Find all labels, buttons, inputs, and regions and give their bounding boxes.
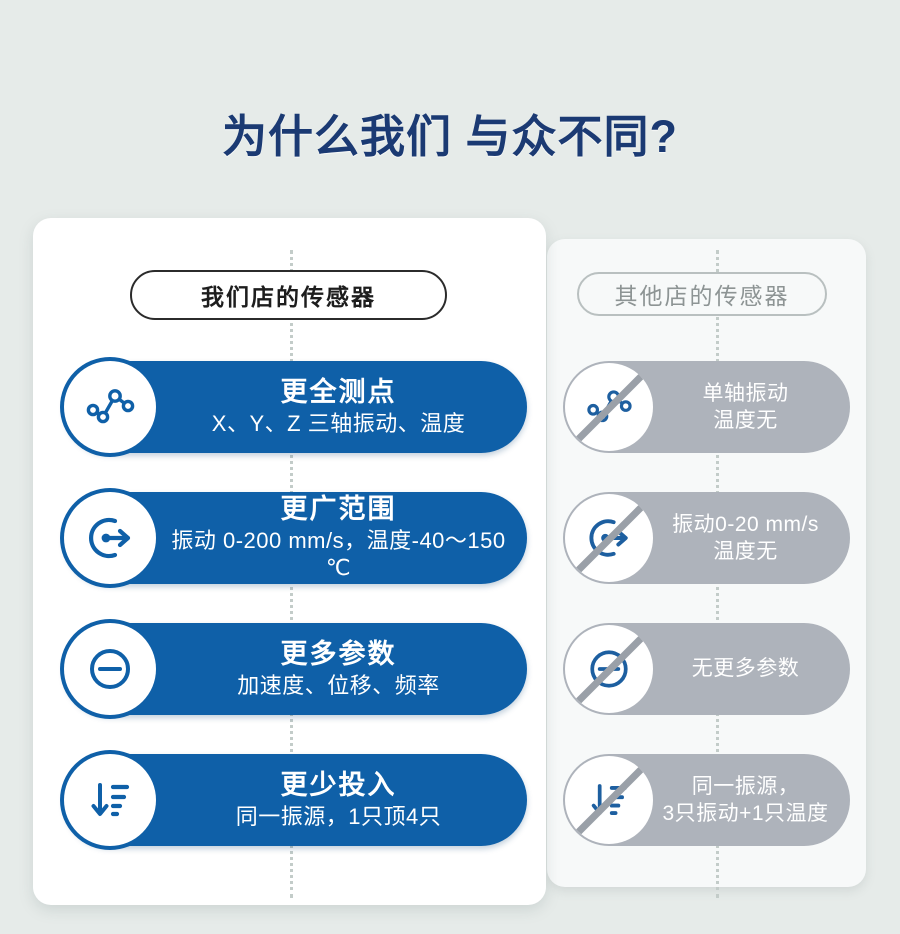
row-subtitle: 振动 0-200 mm/s，温度-40～150 ℃: [164, 528, 513, 582]
row-line-2: 3只振动+1只温度: [662, 800, 828, 827]
row-line-1: 单轴振动: [703, 380, 789, 407]
other-store-header-label: 其他店的传感器: [615, 277, 790, 311]
our-row-measurement-points: 更全测点 X、Y、Z 三轴振动、温度: [64, 361, 527, 453]
row-line-1: 无更多参数: [692, 655, 800, 682]
other-store-header-pill: 其他店的传感器: [577, 272, 827, 316]
row-subtitle: X、Y、Z 三轴振动、温度: [212, 411, 465, 438]
line-chart-nodes-icon: [565, 363, 653, 451]
sort-descending-icon: [64, 754, 156, 846]
our-row-investment: 更少投入 同一振源，1只顶4只: [64, 754, 527, 846]
row-line-1: 同一振源，: [692, 773, 800, 800]
arrow-out-of-circle-icon: [64, 492, 156, 584]
row-title: 更广范围: [281, 494, 397, 526]
row-subtitle: 加速度、位移、频率: [237, 673, 440, 700]
sort-descending-icon: [565, 756, 653, 844]
row-line-1: 振动0-20 mm/s: [672, 511, 819, 538]
row-line-2: 温度无: [713, 407, 778, 434]
other-row-investment: 同一振源， 3只振动+1只温度: [563, 754, 850, 846]
row-line-2: 温度无: [713, 538, 778, 565]
row-subtitle: 同一振源，1只顶4只: [236, 804, 441, 831]
row-texts: 更广范围 振动 0-200 mm/s，温度-40～150 ℃: [164, 492, 513, 584]
comparison-infographic: 为什么我们 与众不同? 我们店的传感器 其他店的传感器 更全测点 X、Y、Z 三…: [0, 0, 900, 934]
row-title: 更少投入: [281, 770, 397, 802]
row-title: 更多参数: [281, 639, 397, 671]
page-title: 为什么我们 与众不同?: [0, 100, 900, 165]
other-row-parameters: 无更多参数: [563, 623, 850, 715]
row-title: 更全测点: [281, 377, 397, 409]
arrow-out-of-circle-icon: [565, 494, 653, 582]
line-chart-nodes-icon: [64, 361, 156, 453]
our-store-header-label: 我们店的传感器: [201, 278, 376, 312]
minus-circle-icon: [565, 625, 653, 713]
minus-circle-icon: [64, 623, 156, 715]
our-row-range: 更广范围 振动 0-200 mm/s，温度-40～150 ℃: [64, 492, 527, 584]
row-texts: 单轴振动 温度无: [651, 361, 840, 453]
our-row-parameters: 更多参数 加速度、位移、频率: [64, 623, 527, 715]
row-texts: 更全测点 X、Y、Z 三轴振动、温度: [164, 361, 513, 453]
row-texts: 更少投入 同一振源，1只顶4只: [164, 754, 513, 846]
row-texts: 无更多参数: [651, 623, 840, 715]
row-texts: 同一振源， 3只振动+1只温度: [651, 754, 840, 846]
our-store-header-pill: 我们店的传感器: [130, 270, 447, 320]
other-row-range: 振动0-20 mm/s 温度无: [563, 492, 850, 584]
row-texts: 更多参数 加速度、位移、频率: [164, 623, 513, 715]
row-texts: 振动0-20 mm/s 温度无: [651, 492, 840, 584]
other-row-measurement-points: 单轴振动 温度无: [563, 361, 850, 453]
